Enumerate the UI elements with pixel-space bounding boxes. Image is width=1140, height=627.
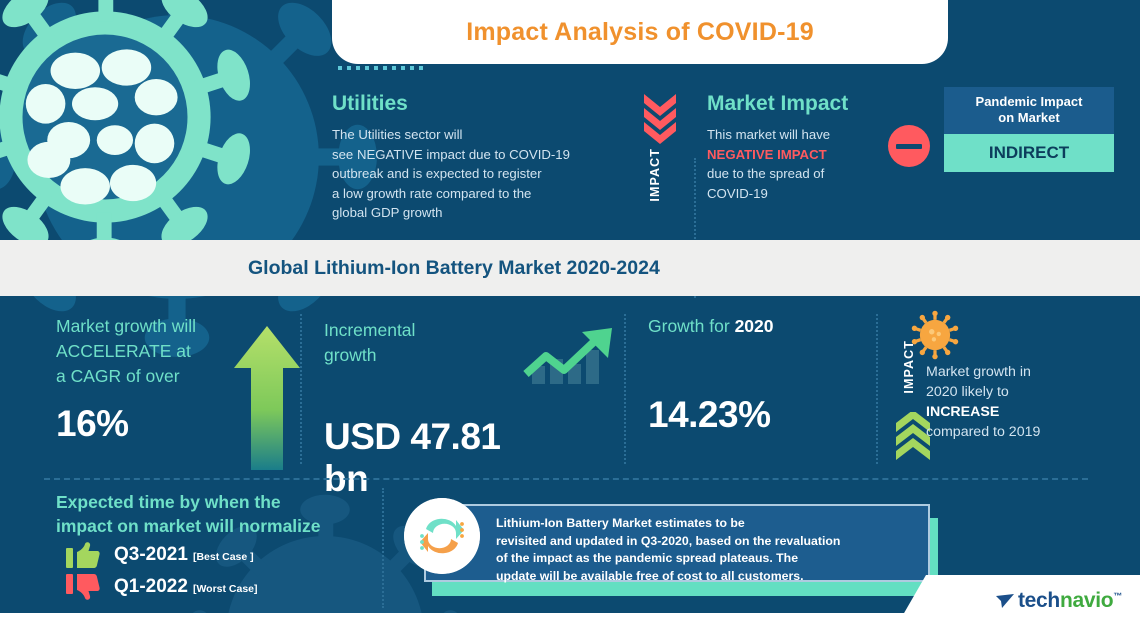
impact-line-2: 2020 likely to	[926, 382, 1126, 402]
cagr-label-line-1: Market growth will	[56, 314, 256, 339]
metrics-section: Market growth will ACCELERATE at a CAGR …	[0, 296, 1140, 476]
virus-icon	[908, 308, 962, 362]
pandemic-impact-value: INDIRECT	[944, 134, 1114, 172]
pandemic-heading-line-1: Pandemic Impact	[950, 94, 1108, 110]
market-impact-line-4: COVID-19	[707, 184, 907, 204]
vertical-divider-metric-3	[876, 314, 878, 464]
trend-up-icon	[520, 326, 618, 388]
vertical-divider-metric-2	[624, 314, 626, 464]
utilities-body-line-1: The Utilities sector will	[332, 125, 632, 145]
market-impact-title: Market Impact	[707, 92, 907, 116]
callout-line-1: Lithium-Ion Battery Market estimates to …	[496, 515, 920, 533]
page-title: Impact Analysis of COVID-19	[466, 18, 814, 47]
utilities-body: The Utilities sector will see NEGATIVE i…	[332, 125, 632, 223]
footer-diagonal-notch	[896, 575, 926, 627]
expected-time-title: Expected time by when the impact on mark…	[56, 490, 386, 538]
utilities-body-line-3: outbreak and is expected to register	[332, 164, 632, 184]
cagr-label-line-2: ACCELERATE at	[56, 339, 256, 364]
no-entry-icon	[888, 125, 930, 167]
pandemic-impact-box: Pandemic Impact on Market INDIRECT	[944, 87, 1114, 172]
thumbs-up-icon	[66, 542, 100, 568]
growth-2020-value: 14.23%	[648, 394, 878, 436]
market-impact-line-2: NEGATIVE IMPACT	[707, 145, 907, 165]
worst-case-text: Q1-2022[Worst Case]	[114, 576, 258, 598]
cagr-label-line-3: a CAGR of over	[56, 364, 256, 389]
callout-line-2: revisited and updated in Q3-2020, based …	[496, 533, 920, 551]
callout-line-3: of the impact as the pandemic spread pla…	[496, 550, 920, 568]
top-section: Utilities The Utilities sector will see …	[0, 72, 1140, 236]
callout-text: Lithium-Ion Battery Market estimates to …	[496, 515, 920, 585]
decorative-dot-row	[338, 66, 423, 70]
technavio-logo: technavio™	[995, 589, 1122, 613]
best-case-row: Q3-2021[Best Case ]	[66, 542, 254, 568]
impact-line-1: Market growth in	[926, 362, 1126, 382]
expected-title-line-2: impact on market will normalize	[56, 514, 386, 538]
market-impact-block: Market Impact This market will have NEGA…	[707, 92, 907, 203]
worst-case-quarter: Q1-2022	[114, 576, 188, 597]
chevron-double-down-icon	[644, 94, 676, 144]
vertical-divider-metric-1	[300, 314, 302, 464]
growth-2020-label: Growth for 2020	[648, 314, 878, 339]
impact-indicator-top: IMPACT	[636, 94, 684, 240]
cagr-label: Market growth will ACCELERATE at a CAGR …	[56, 314, 256, 389]
technavio-wordmark: technavio™	[1018, 589, 1122, 613]
technavio-mark-icon	[995, 591, 1015, 611]
cagr-value: 16%	[56, 403, 256, 445]
impact-line-4: compared to 2019	[926, 422, 1126, 442]
cagr-metric: Market growth will ACCELERATE at a CAGR …	[56, 314, 256, 445]
thumbs-down-icon	[66, 574, 100, 600]
growth-2020-label-year: 2020	[735, 316, 774, 336]
header-banner: Impact Analysis of COVID-19	[332, 0, 948, 64]
growth-2020-metric: Growth for 2020 14.23%	[648, 314, 878, 436]
utilities-title: Utilities	[332, 92, 632, 116]
infographic-canvas: Impact Analysis of COVID-19 Utilities Th…	[0, 0, 1140, 627]
vertical-divider-bottom	[382, 488, 384, 608]
best-case-tag: [Best Case ]	[193, 551, 254, 563]
market-impact-line-1: This market will have	[707, 125, 907, 145]
chevron-double-up-icon	[896, 412, 930, 460]
utilities-body-line-4: a low growth rate compared to the	[332, 184, 632, 204]
arrow-up-icon	[232, 322, 302, 470]
report-title-band: Global Lithium-Ion Battery Market 2020-2…	[0, 240, 1140, 296]
horizontal-divider	[44, 478, 1088, 480]
expected-title-line-1: Expected time by when the	[56, 490, 386, 514]
utilities-block: Utilities The Utilities sector will see …	[332, 92, 632, 223]
impact-label-top: IMPACT	[648, 148, 662, 202]
utilities-body-line-5: global GDP growth	[332, 203, 632, 223]
market-impact-body: This market will have NEGATIVE IMPACT du…	[707, 125, 907, 203]
best-case-text: Q3-2021[Best Case ]	[114, 544, 254, 566]
impact-line-3: INCREASE	[926, 402, 1126, 422]
report-title: Global Lithium-Ion Battery Market 2020-2…	[248, 257, 660, 280]
growth-2020-label-text: Growth for	[648, 316, 730, 336]
pandemic-impact-heading: Pandemic Impact on Market	[944, 87, 1114, 134]
worst-case-row: Q1-2022[Worst Case]	[66, 574, 258, 600]
callout-line-4: update will be available free of cost to…	[496, 568, 920, 586]
pandemic-heading-line-2: on Market	[950, 110, 1108, 126]
impact-description: Market growth in 2020 likely to INCREASE…	[926, 362, 1126, 442]
callout-box: Lithium-Ion Battery Market estimates to …	[424, 504, 930, 582]
best-case-quarter: Q3-2021	[114, 544, 188, 565]
refresh-icon	[404, 498, 480, 574]
market-impact-line-3: due to the spread of	[707, 164, 907, 184]
utilities-body-line-2: see NEGATIVE impact due to COVID-19	[332, 145, 632, 165]
worst-case-tag: [Worst Case]	[193, 583, 258, 595]
